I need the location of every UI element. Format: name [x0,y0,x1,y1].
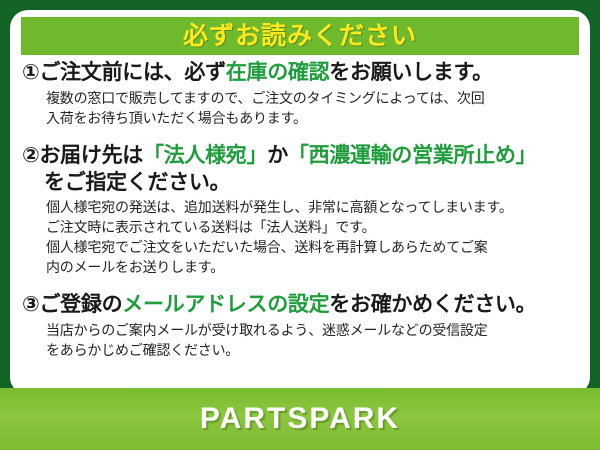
notice-item-3-heading: ③ご登録のメールアドレスの設定をお確かめください。 [22,292,578,319]
notice-item-1-body-line-1: 複数の窓口で販売してますので、ご注文のタイミングによっては、次回 [46,89,578,109]
notice-item-1-heading-part-1: ご注文前には、必ず [39,61,225,84]
notice-item-1-number: ① [22,61,39,84]
notice-item-3-heading-highlight: メールアドレスの設定 [122,293,329,316]
notice-item-2-body-line-3: 個人様宅宛でご注文をいただいた場合、送料を再計算しあらためてご案 [46,238,578,258]
notice-items: ①ご注文前には、必ず在庫の確認をお願いします。 複数の窓口で販売してますので、ご… [10,60,590,363]
notice-item-3-body: 当店からのご案内メールが受け取れるよう、迷惑メールなどの受信設定 をあらかじめご… [22,319,578,361]
notice-card: 必ずお読みください ①ご注文前には、必ず在庫の確認をお願いします。 複数の窓口で… [0,0,600,450]
notice-item-2-heading: ②お届け先は「法人様宛」か「西濃運輸の営業所止め」 [22,143,578,170]
notice-item-2-body-line-1: 個人様宅宛の発送は、追加送料が発生し、非常に高額となってしまいます。 [46,198,578,218]
notice-item-3-body-line-2: をあらかじめご確認ください。 [46,341,578,361]
notice-item-2-body: 個人様宅宛の発送は、追加送料が発生し、非常に高額となってしまいます。 ご注文時に… [22,196,578,278]
notice-item-3: ③ご登録のメールアドレスの設定をお確かめください。 当店からのご案内メールが受け… [22,292,578,361]
notice-item-2-heading-part-1: お届け先は [39,144,143,167]
notice-item-3-number: ③ [22,293,39,316]
notice-item-3-heading-part-1: ご登録の [39,293,122,316]
notice-item-2-heading-highlight-2: 「西濃運輸の営業所止め」 [288,144,536,167]
notice-item-1-heading-highlight: 在庫の確認 [226,61,330,84]
notice-item-2-number: ② [22,144,39,167]
notice-item-3-body-line-1: 当店からのご案内メールが受け取れるよう、迷惑メールなどの受信設定 [46,321,578,341]
notice-item-2: ②お届け先は「法人様宛」か「西濃運輸の営業所止め」 をご指定ください。 個人様宅… [22,143,578,278]
page-title: 必ずお読みください [183,24,417,49]
brand-logo-text: PARTSPARK [200,404,400,434]
notice-item-2-heading-highlight-1: 「法人様宛」 [143,144,267,167]
notice-item-2-body-line-4: 内のメールをお送りします。 [46,258,578,278]
notice-item-1-body-line-2: 入荷をお待ち頂いただく場合もあります。 [46,109,578,129]
notice-item-1-heading-part-3: をお願いします。 [329,61,493,84]
notice-item-1-body: 複数の窓口で販売してますので、ご注文のタイミングによっては、次回 入荷をお待ち頂… [22,87,578,129]
notice-item-1: ①ご注文前には、必ず在庫の確認をお願いします。 複数の窓口で販売してますので、ご… [22,60,578,129]
footer-brand-bar: PARTSPARK [0,388,600,450]
title-bar: 必ずお読みください [21,17,579,55]
notice-item-3-heading-part-3: をお確かめください。 [329,293,536,316]
content-panel: 必ずお読みください ①ご注文前には、必ず在庫の確認をお願いします。 複数の窓口で… [10,10,590,395]
notice-item-2-heading-line2: をご指定ください。 [22,170,578,197]
notice-item-2-heading-part-3: か [267,144,288,167]
notice-item-2-body-line-2: ご注文時に表示されている送料は「法人送料」です。 [46,218,578,238]
notice-item-1-heading: ①ご注文前には、必ず在庫の確認をお願いします。 [22,60,578,87]
